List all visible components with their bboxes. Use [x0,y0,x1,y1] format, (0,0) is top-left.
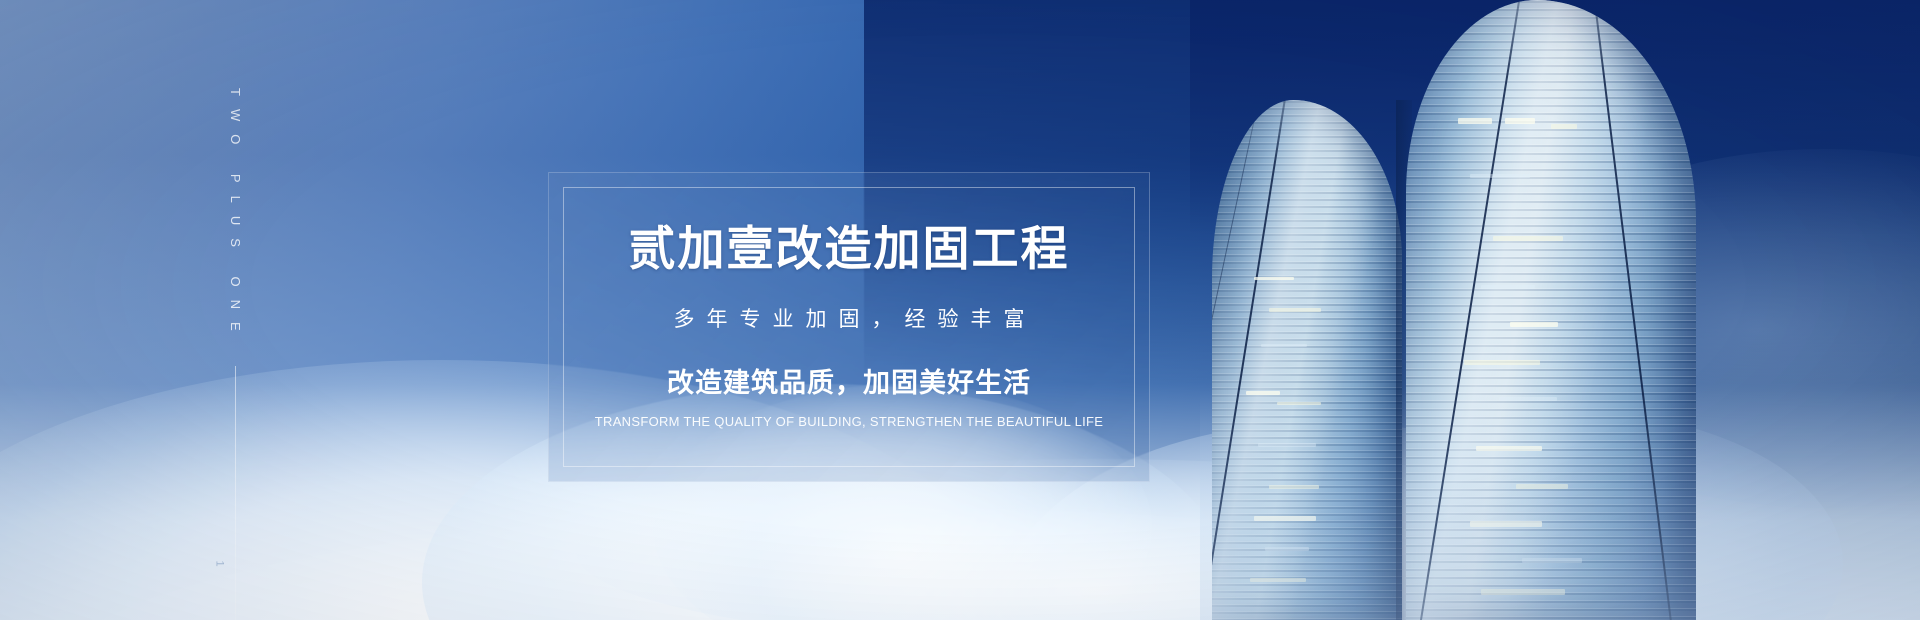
tower-window [1481,285,1535,289]
tower-window [1522,558,1582,563]
tower-window [1493,236,1563,241]
tower-window [1505,118,1535,124]
tower-window [1250,578,1306,582]
tower-right-glass-sheen [1406,0,1696,620]
tower-window [1470,521,1542,527]
side-brand-mark: TWO PLUS ONE 1 [228,86,243,620]
tower-window [1258,443,1316,447]
tower-left [1212,100,1402,620]
tagline-text: 改造建筑品质，加固美好生活 [667,361,1031,400]
tower-window [1246,391,1280,395]
side-slide-number: 1 [214,560,226,567]
side-brand-text: TWO PLUS ONE [228,86,243,344]
tower-window [1269,485,1319,489]
tower-window [1551,124,1577,129]
skyscrapers-photo [1200,0,1920,620]
tower-right [1406,0,1696,620]
tower-window [1481,589,1565,595]
tower-window [1499,397,1557,401]
headline-panel: 贰加壹改造加固工程 多年专业加固，经验丰富 改造建筑品质，加固美好生活 TRAN… [548,172,1150,482]
tower-window [1464,360,1540,365]
tower-window [1516,484,1568,489]
side-vertical-rule [235,366,236,620]
tower-window [1254,516,1316,521]
tower-window [1458,118,1492,124]
english-tagline-text: TRANSFORM THE QUALITY OF BUILDING, STREN… [595,414,1103,429]
tower-window [1261,344,1307,347]
tower-window [1476,446,1542,451]
tower-window [1277,402,1321,405]
tower-window [1269,308,1321,312]
tower-window [1265,547,1309,551]
tower-window [1510,322,1558,327]
hero-banner: TWO PLUS ONE 1 贰加壹改造加固工程 多年专业加固，经验丰富 改造建… [0,0,1920,620]
tower-window [1254,277,1294,280]
headline-panel-content: 贰加壹改造加固工程 多年专业加固，经验丰富 改造建筑品质，加固美好生活 TRAN… [549,173,1149,481]
page-title: 贰加壹改造加固工程 [629,226,1070,273]
subtitle-text: 多年专业加固，经验丰富 [662,303,1037,333]
tower-window [1470,174,1530,178]
